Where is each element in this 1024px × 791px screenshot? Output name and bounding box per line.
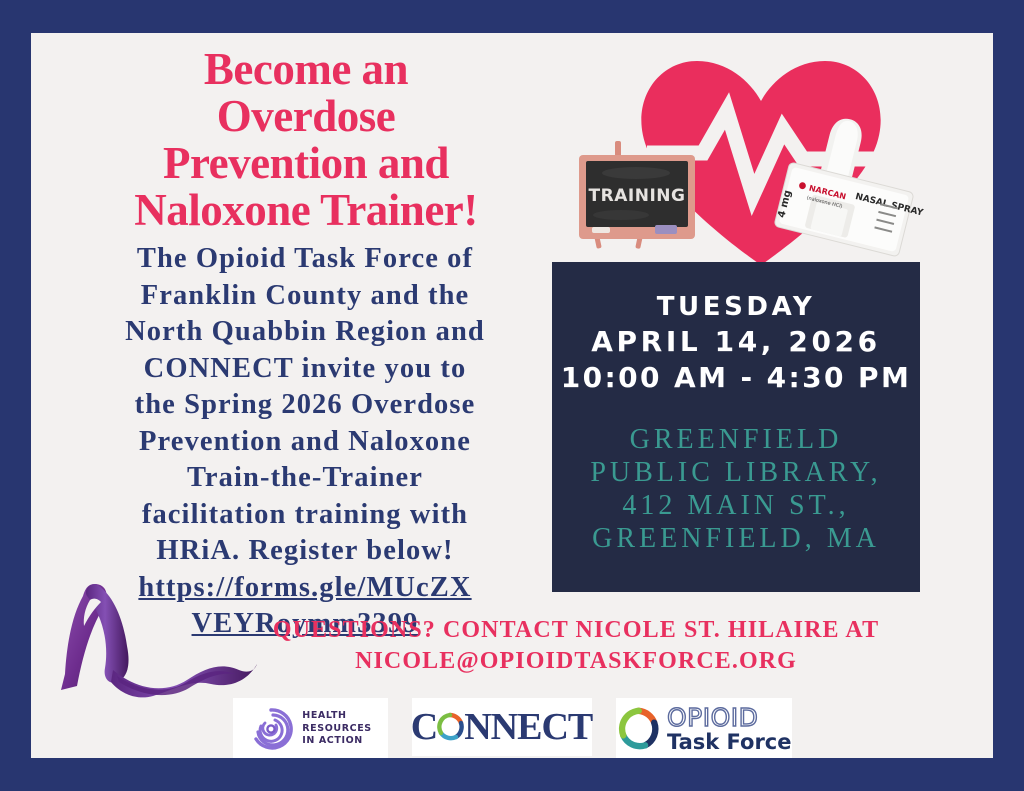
chalkboard-label: TRAINING [589,186,686,206]
event-date: APRIL 14, 2026 [591,324,880,360]
event-venue: GREENFIELD PUBLIC LIBRARY, 412 MAIN ST.,… [590,423,881,555]
body-line-6: Prevention and Naloxone [55,424,555,461]
logo-opioid-task-force: OPIOID Task Force [616,698,792,758]
connect-prefix: C [411,708,437,746]
venue-line-1: GREENFIELD [590,423,881,456]
otf-swirl-icon [616,704,661,754]
body-line-1: The Opioid Task Force of [55,241,555,278]
logo-strip: HEALTH RESOURCES IN ACTION C [31,698,993,758]
body-line-8: facilitation training with [55,497,555,534]
otf-wordmark: OPIOID Task Force [667,705,792,754]
body-line-4: CONNECT invite you to [55,351,555,388]
event-day: TUESDAY [657,290,816,324]
body-line-5: the Spring 2026 Overdose [55,387,555,424]
hria-line-3: IN ACTION [302,735,371,748]
body-line-2: Franklin County and the [55,278,555,315]
connect-wordmark: C NNECT [411,708,592,746]
venue-line-3: 412 MAIN ST., [590,489,881,522]
hria-line-1: HEALTH [302,710,371,723]
logo-health-resources-in-action: HEALTH RESOURCES IN ACTION [233,698,388,758]
hria-line-2: RESOURCES [302,723,371,736]
venue-line-4: GREENFIELD, MA [590,522,881,555]
body-line-7: Train-the-Trainer [55,460,555,497]
connect-suffix: NNECT [464,708,592,746]
headline-line-2: Overdose [71,93,541,140]
poster-card: TRAINING [31,33,993,758]
body-line-3: North Quabbin Region and [55,314,555,351]
page-title: Become an Overdose Prevention and Naloxo… [71,46,541,234]
event-details-box: TUESDAY APRIL 14, 2026 10:00 AM - 4:30 P… [552,262,920,592]
venue-line-2: PUBLIC LIBRARY, [590,456,881,489]
body-line-9: HRiA. Register below! [55,533,555,570]
connect-swirl-icon [435,712,465,742]
logo-connect: C NNECT [412,698,592,756]
contact-line-1: QUESTIONS? CONTACT NICOLE ST. HILAIRE AT [181,615,971,646]
headline-line-4: Naloxone Trainer! [71,187,541,234]
otf-line-2: Task Force [667,731,792,754]
training-easel-icon: TRAINING [579,141,695,249]
contact-email[interactable]: NICOLE@OPIOIDTASKFORCE.ORG [181,646,971,677]
contact-info: QUESTIONS? CONTACT NICOLE ST. HILAIRE AT… [181,615,971,677]
hero-graphic-group: TRAINING [531,33,993,265]
hria-wordmark: HEALTH RESOURCES IN ACTION [302,710,371,748]
otf-line-1: OPIOID [667,705,792,731]
headline-line-3: Prevention and [71,140,541,187]
headline-line-1: Become an [71,46,541,93]
flyer-poster: TRAINING [0,0,1024,791]
event-time: 10:00 AM - 4:30 PM [561,360,912,396]
hria-spiral-icon [248,706,294,752]
